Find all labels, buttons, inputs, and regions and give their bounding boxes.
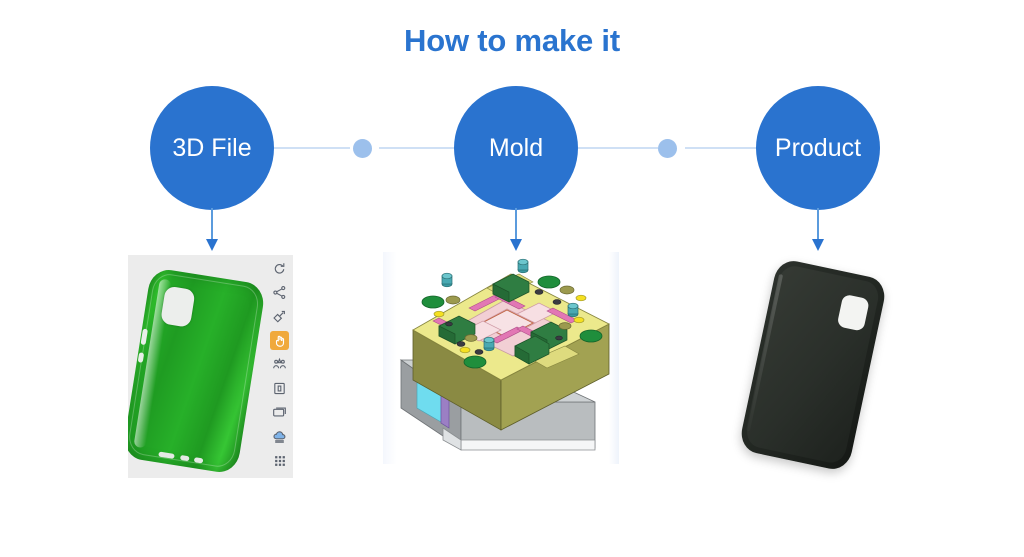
grid-apps-icon[interactable]: [270, 451, 289, 470]
layers-card-icon[interactable]: [270, 403, 289, 422]
down-arrow-product: [810, 208, 826, 252]
connector-line-1b: [379, 147, 458, 149]
section-view-icon[interactable]: [270, 379, 289, 398]
arrow-shaft: [211, 208, 213, 242]
hand-pan-icon[interactable]: [270, 331, 289, 350]
cad-viewer-panel[interactable]: [128, 255, 293, 478]
measure-icon[interactable]: [270, 307, 289, 326]
arrow-shaft: [515, 208, 517, 242]
connector-dot-1: [353, 139, 372, 158]
mold-render-panel[interactable]: [383, 252, 619, 464]
render-cloud-icon[interactable]: [270, 427, 289, 446]
connector-line-1a: [274, 147, 350, 149]
connector-dot-2: [658, 139, 677, 158]
arrow-head-icon: [206, 239, 218, 251]
flow-node-product[interactable]: Product: [756, 86, 880, 210]
share-nodes-icon[interactable]: [270, 283, 289, 302]
flow-node-label: 3D File: [172, 135, 251, 161]
arrow-head-icon: [510, 239, 522, 251]
product-photo-panel[interactable]: [735, 255, 905, 475]
cad-viewer-toolbar[interactable]: [266, 255, 293, 478]
case-inner-surface: [744, 263, 881, 465]
flow-node-mold[interactable]: Mold: [454, 86, 578, 210]
down-arrow-3d-file: [204, 208, 220, 252]
slide-canvas: How to make it 3D File Mold Product: [0, 0, 1024, 557]
annotate-people-icon[interactable]: [270, 355, 289, 374]
rotate-history-icon[interactable]: [270, 259, 289, 278]
connector-line-2b: [685, 147, 761, 149]
flow-node-label: Mold: [489, 135, 543, 161]
arrow-head-icon: [812, 239, 824, 251]
green-phone-case-model[interactable]: [128, 267, 266, 475]
flow-node-label: Product: [775, 135, 861, 161]
down-arrow-mold: [508, 208, 524, 252]
arrow-shaft: [817, 208, 819, 242]
black-phone-case-photo: [738, 257, 888, 472]
flow-node-3d-file[interactable]: 3D File: [150, 86, 274, 210]
injection-mold-3d-render: [383, 252, 619, 464]
connector-line-2a: [578, 147, 658, 149]
